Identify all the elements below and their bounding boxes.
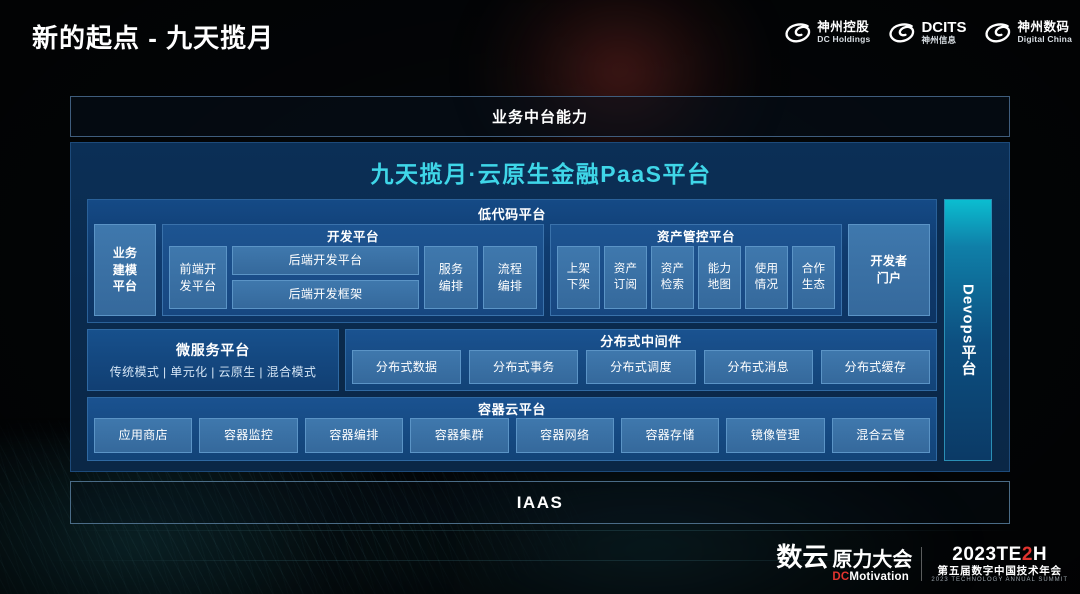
event-logo-motivation-rest: Motivation: [849, 571, 909, 583]
microservice-middleware-row: 微服务平台 传统模式 | 单元化 | 云原生 | 混合模式 分布式中间件 分布式…: [87, 329, 937, 391]
event-logo-divider: [921, 547, 922, 581]
tile-asset-listing[interactable]: 上架下架: [557, 246, 600, 309]
event-year: 2023: [952, 544, 996, 565]
tile-distributed-data[interactable]: 分布式数据: [352, 350, 461, 384]
logo-digital-china: 神州数码 Digital China: [984, 21, 1072, 44]
tile-capability-map[interactable]: 能力地图: [698, 246, 741, 309]
event-logo-en-line: 2023 TECHNOLOGY ANNUAL SUMMIT: [931, 577, 1068, 584]
dcits-swirl-logo-icon: [888, 22, 916, 44]
tile-distributed-transaction[interactable]: 分布式事务: [469, 350, 578, 384]
event-logo: 数云 原力大会 DCMotivation 2023TE2H 第五届数字中国技术年…: [776, 544, 1068, 584]
devops-platform-column[interactable]: Devops平台: [944, 199, 992, 461]
tile-distributed-scheduling[interactable]: 分布式调度: [586, 350, 695, 384]
paas-platform-frame: 九天揽月·云原生金融PaaS平台 低代码平台 业务建模平台 开发平台 前端开发平…: [70, 142, 1010, 472]
logo-dcits: DCITS 神州信息: [888, 20, 966, 45]
logo-label-en: Digital China: [1017, 35, 1072, 44]
tile-image-management[interactable]: 镜像管理: [726, 418, 824, 453]
tile-frontend-dev-platform[interactable]: 前端开发平台: [169, 246, 227, 309]
logo-label-en: 神州信息: [921, 36, 966, 45]
event-logo-left: 数云 原力大会 DCMotivation: [776, 544, 912, 584]
event-logo-motivation: DCMotivation: [832, 571, 912, 584]
event-tech: TE: [997, 544, 1022, 565]
asset-management-platform-group: 资产管控平台 上架下架 资产订阅 资产检索 能力地图 使用情况 合作生态: [550, 224, 842, 316]
development-platform-title: 开发平台: [169, 228, 537, 246]
microservice-platform-subtitle: 传统模式 | 单元化 | 云原生 | 混合模式: [110, 363, 317, 380]
band-label: IAAS: [517, 493, 564, 513]
platform-layer-stack: 低代码平台 业务建模平台 开发平台 前端开发平台 后端开发平台 后端开发框架 服…: [87, 199, 937, 461]
microservice-platform-section: 微服务平台 传统模式 | 单元化 | 云原生 | 混合模式: [87, 329, 339, 391]
business-middle-platform-band: 业务中台能力: [70, 96, 1010, 137]
logo-label-cn: 神州控股: [817, 21, 870, 35]
devops-platform-label: Devops平台: [958, 284, 979, 376]
slide-header: 新的起点 - 九天揽月 神州控股 DC Holdings DCITS 神州信息: [0, 0, 1080, 72]
lowcode-platform-title: 低代码平台: [94, 205, 930, 224]
tile-container-storage[interactable]: 容器存储: [621, 418, 719, 453]
digital-china-swirl-logo-icon: [984, 22, 1012, 44]
tile-distributed-cache[interactable]: 分布式缓存: [821, 350, 930, 384]
tile-service-orchestration[interactable]: 服务编排: [424, 246, 478, 309]
backend-tile-stack: 后端开发平台 后端开发框架: [232, 246, 419, 309]
tile-usage-status[interactable]: 使用情况: [745, 246, 788, 309]
corporate-logo-bar: 神州控股 DC Holdings DCITS 神州信息 神州数码 Digital…: [784, 20, 1072, 45]
event-tech-accent: 2: [1022, 544, 1033, 565]
tile-hybrid-cloud-management[interactable]: 混合云管: [832, 418, 930, 453]
container-cloud-platform-section: 容器云平台 应用商店 容器监控 容器编排 容器集群 容器网络 容器存储 镜像管理…: [87, 397, 937, 461]
tile-partner-ecosystem[interactable]: 合作生态: [792, 246, 835, 309]
tile-asset-subscription[interactable]: 资产订阅: [604, 246, 647, 309]
tile-container-network[interactable]: 容器网络: [516, 418, 614, 453]
event-logo-cn-line: 第五届数字中国技术年会: [931, 566, 1068, 578]
event-logo-shuyun: 数云: [776, 544, 828, 570]
tile-container-cluster[interactable]: 容器集群: [410, 418, 508, 453]
event-logo-year-line: 2023TE2H: [931, 545, 1068, 566]
event-logo-yuanli: 原力大会: [832, 550, 912, 571]
event-logo-right: 2023TE2H 第五届数字中国技术年会 2023 TECHNOLOGY ANN…: [931, 545, 1068, 584]
asset-management-platform-title: 资产管控平台: [557, 228, 835, 246]
tile-developer-portal[interactable]: 开发者门户: [848, 224, 930, 316]
tile-backend-dev-framework[interactable]: 后端开发框架: [232, 280, 419, 309]
event-tech-post: H: [1033, 544, 1047, 565]
tile-distributed-messaging[interactable]: 分布式消息: [704, 350, 813, 384]
logo-label-cn: 神州数码: [1017, 21, 1072, 35]
paas-platform-title: 九天揽月·云原生金融PaaS平台: [71, 155, 1011, 189]
tile-container-orchestration[interactable]: 容器编排: [305, 418, 403, 453]
lowcode-platform-section: 低代码平台 业务建模平台 开发平台 前端开发平台 后端开发平台 后端开发框架 服…: [87, 199, 937, 323]
logo-label-en: DC Holdings: [817, 35, 870, 44]
band-label: 业务中台能力: [492, 106, 588, 127]
tile-process-orchestration[interactable]: 流程编排: [483, 246, 537, 309]
iaas-band: IAAS: [70, 481, 1010, 524]
tile-business-modeling-platform[interactable]: 业务建模平台: [94, 224, 156, 316]
tile-asset-search[interactable]: 资产检索: [651, 246, 694, 309]
distributed-middleware-title: 分布式中间件: [352, 333, 930, 350]
microservice-platform-title: 微服务平台: [176, 340, 250, 360]
architecture-diagram: 业务中台能力 九天揽月·云原生金融PaaS平台 低代码平台 业务建模平台 开发平…: [70, 96, 1010, 524]
tile-app-store[interactable]: 应用商店: [94, 418, 192, 453]
container-cloud-platform-title: 容器云平台: [94, 401, 930, 418]
distributed-middleware-section: 分布式中间件 分布式数据 分布式事务 分布式调度 分布式消息 分布式缓存: [345, 329, 937, 391]
logo-dc-holdings: 神州控股 DC Holdings: [784, 21, 870, 44]
dc-swirl-logo-icon: [784, 22, 812, 44]
development-platform-group: 开发平台 前端开发平台 后端开发平台 后端开发框架 服务编排 流程编排: [162, 224, 544, 316]
tile-backend-dev-platform[interactable]: 后端开发平台: [232, 246, 419, 275]
tile-container-monitoring[interactable]: 容器监控: [199, 418, 297, 453]
page-title: 新的起点 - 九天揽月: [32, 18, 274, 55]
logo-label-cn: DCITS: [921, 20, 966, 36]
event-logo-motivation-dc: DC: [832, 571, 849, 583]
